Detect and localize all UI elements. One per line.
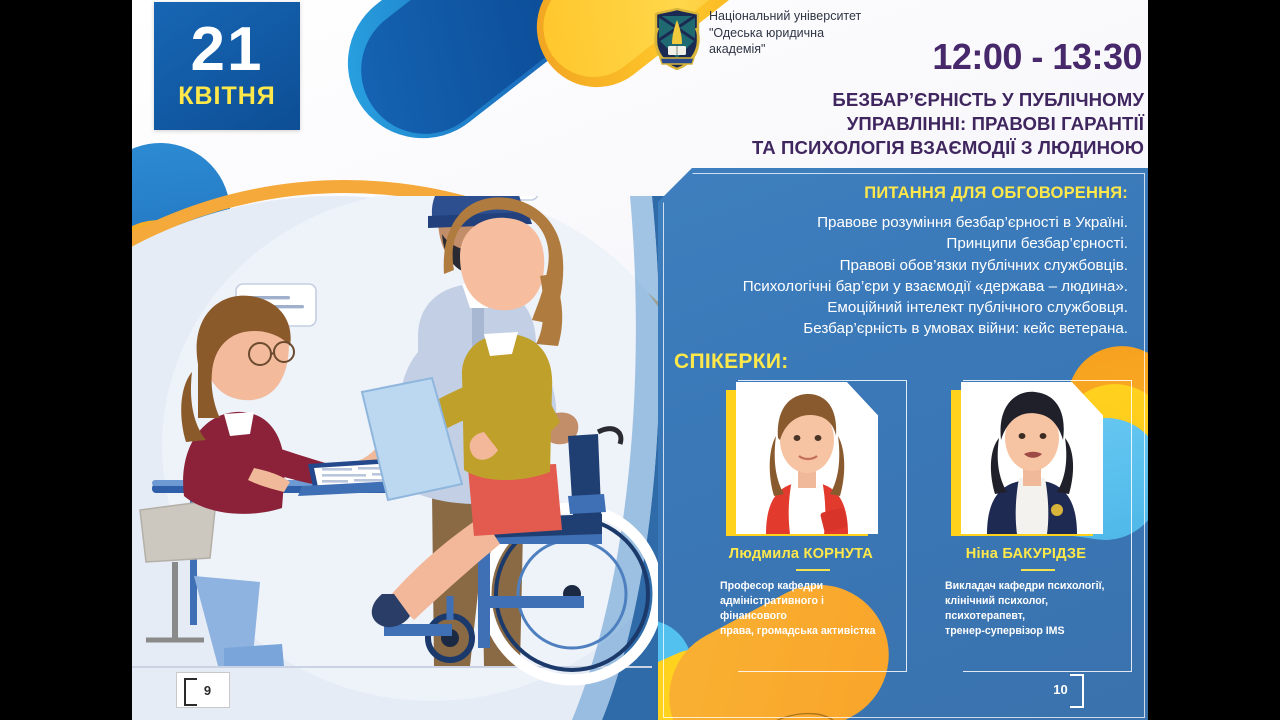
illustration-area <box>132 196 692 720</box>
content-panel: ПИТАННЯ ДЛЯ ОБГОВОРЕННЯ: Правове розумін… <box>658 168 1148 720</box>
speaker-divider <box>1021 569 1055 571</box>
question-item: Правове розуміння безбар’єрності в Украї… <box>676 212 1128 233</box>
date-day: 21 <box>191 21 264 78</box>
presentation-slide: 21 КВІТНЯ Національний університет"Одесь… <box>132 0 1148 720</box>
date-badge: 21 КВІТНЯ <box>154 2 300 130</box>
question-item: Безбар’єрність в умовах війни: кейс вете… <box>676 318 1128 339</box>
university-block: Національний університет"Одеська юридичн… <box>654 8 861 70</box>
question-item: Емоційний інтелект публічного службовця. <box>676 297 1128 318</box>
speaker-photo-card <box>736 382 878 534</box>
speaker-photo-card <box>961 382 1103 534</box>
speaker-photo-kornuta <box>736 382 878 534</box>
slide-stage: 21 КВІТНЯ Національний університет"Одесь… <box>0 0 1280 720</box>
speakers-cards: Людмила КОРНУТА Професор кафедриадмініст… <box>720 380 1130 680</box>
slide-marker-left[interactable]: 9 <box>176 672 230 708</box>
inclusive-meeting-illustration <box>132 196 692 720</box>
slide-marker-right[interactable]: 10 <box>1040 672 1092 706</box>
bracket-icon <box>184 678 197 706</box>
speaker-photo-frame <box>726 380 878 538</box>
slide-number-left: 9 <box>204 683 211 698</box>
speakers-heading: СПІКЕРКИ: <box>674 350 789 374</box>
questions-heading: ПИТАННЯ ДЛЯ ОБГОВОРЕННЯ: <box>864 184 1128 203</box>
question-item: Психологічні бар’єри у взаємодії «держав… <box>676 276 1128 297</box>
speaker-photo-bakuridze <box>961 382 1103 534</box>
event-title: БЕЗБАР’ЄРНІСТЬ У ПУБЛІЧНОМУУПРАВЛІННІ: П… <box>654 88 1144 160</box>
speaker-card[interactable]: Ніна БАКУРІДЗЕ Викладач кафедри психолог… <box>945 380 1130 680</box>
speaker-divider <box>796 569 830 571</box>
question-item: Принципи безбар’єрності. <box>676 233 1128 254</box>
speaker-photo-frame <box>951 380 1103 538</box>
speaker-card[interactable]: Людмила КОРНУТА Професор кафедриадмініст… <box>720 380 905 680</box>
bracket-icon <box>1070 674 1084 708</box>
question-item: Правові обов’язки публічних службовців. <box>676 255 1128 276</box>
event-time: 12:00 - 13:30 <box>892 36 1142 78</box>
questions-list: Правове розуміння безбар’єрності в Украї… <box>676 212 1128 340</box>
university-crest-icon <box>654 8 700 70</box>
university-name: Національний університет"Одеська юридичн… <box>709 8 861 58</box>
date-month: КВІТНЯ <box>178 82 276 111</box>
slide-number-right: 10 <box>1053 682 1067 697</box>
